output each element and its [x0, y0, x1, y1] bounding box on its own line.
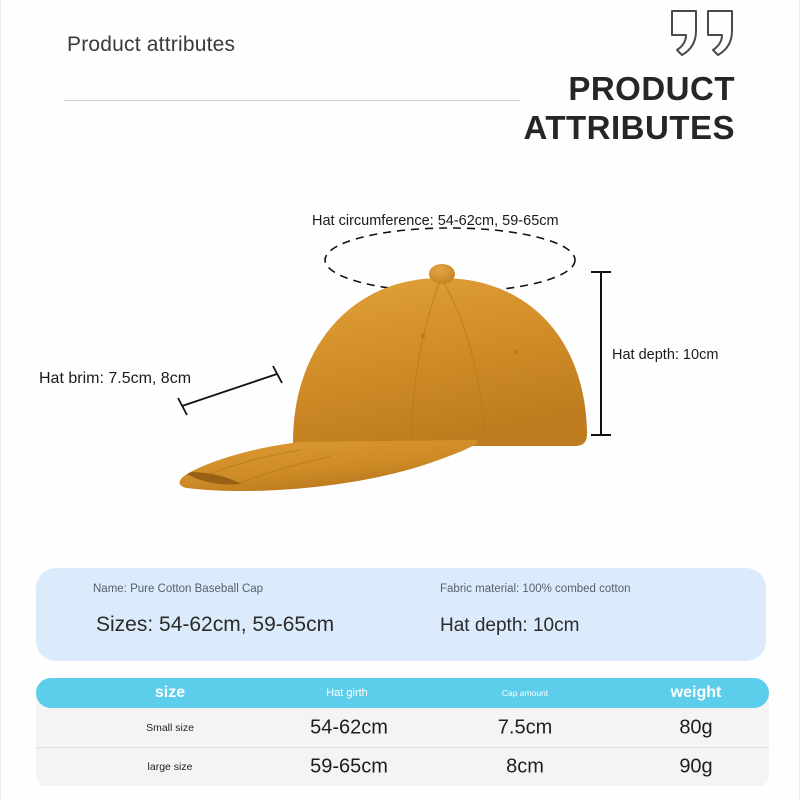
cell-cap-amount: 7.5cm — [498, 716, 552, 739]
cell-hat-girth: 54-62cm — [310, 716, 388, 739]
cap-brim — [180, 440, 478, 491]
column-header-hat-girth: Hat girth — [326, 687, 368, 699]
label-hat-brim: Hat brim: 7.5cm, 8cm — [39, 370, 191, 388]
column-header-size: size — [155, 684, 185, 702]
page-subtitle: Product attributes — [67, 33, 235, 57]
info-sizes: Sizes: 54-62cm, 59-65cm — [96, 613, 334, 637]
info-fabric-material: Fabric material: 100% combed cotton — [440, 583, 630, 595]
spec-table-body: Small size 54-62cm 7.5cm 80g large size … — [36, 695, 769, 786]
page-title: PRODUCT ATTRIBUTES — [215, 70, 735, 148]
cap-crown — [293, 264, 587, 446]
cap-top-button — [429, 264, 455, 284]
product-attributes-page: Product attributes PRODUCT ATTRIBUTES — [0, 0, 800, 800]
brim-dimension-line — [178, 366, 282, 415]
cell-hat-girth: 59-65cm — [310, 756, 388, 779]
product-illustration: Hat circumference: 54-62cm, 59-65cm Hat … — [1, 190, 800, 520]
table-row: Small size 54-62cm 7.5cm 80g — [36, 708, 769, 747]
column-header-weight: weight — [671, 684, 722, 702]
info-hat-depth: Hat depth: 10cm — [440, 615, 579, 637]
cell-weight: 90g — [679, 756, 712, 779]
quote-marks-icon — [668, 8, 740, 60]
info-panel: Name: Pure Cotton Baseball Cap Fabric ma… — [36, 568, 766, 661]
depth-dimension-line — [591, 272, 611, 435]
cell-size: large size — [148, 761, 193, 773]
cell-weight: 80g — [679, 716, 712, 739]
info-product-name: Name: Pure Cotton Baseball Cap — [93, 583, 263, 595]
cap-eyelet-1 — [421, 334, 426, 339]
column-header-cap-amount: Cap amount — [502, 688, 548, 698]
spec-table-header-row: size Hat girth Cap amount weight — [36, 678, 769, 708]
label-hat-depth: Hat depth: 10cm — [612, 347, 718, 363]
cell-cap-amount: 8cm — [506, 756, 544, 779]
spec-table: size Hat girth Cap amount weight Small s… — [36, 678, 769, 786]
page-title-line-1: PRODUCT — [215, 70, 735, 109]
label-hat-circumference: Hat circumference: 54-62cm, 59-65cm — [312, 213, 559, 229]
table-row: large size 59-65cm 8cm 90g — [36, 747, 769, 786]
cap-eyelet-2 — [514, 350, 519, 355]
cell-size: Small size — [146, 722, 194, 734]
page-title-line-2: ATTRIBUTES — [215, 109, 735, 148]
